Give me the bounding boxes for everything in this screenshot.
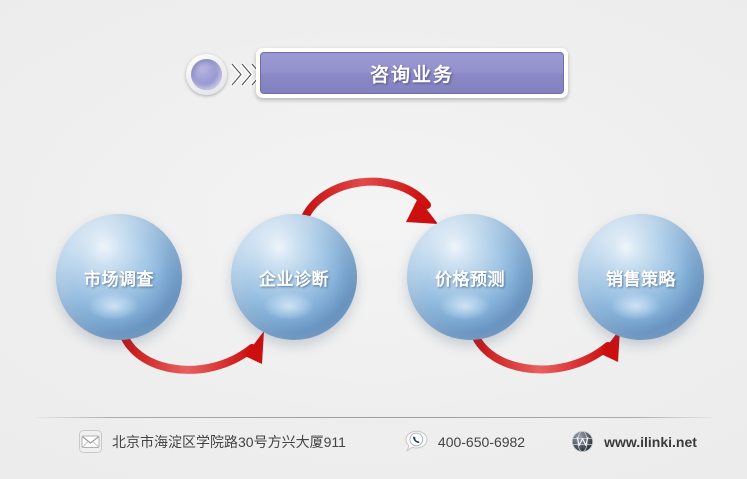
footer-bar: 北京市海淀区学院路30号方兴大厦911 400-650-6982: [0, 417, 747, 479]
footer-website-item: www.ilinki.net: [570, 429, 697, 454]
footer-address-text: 北京市海淀区学院路30号方兴大厦911: [112, 432, 346, 452]
footer-phone-item: 400-650-6982: [404, 429, 525, 454]
flow-step-4[interactable]: 销售策略: [578, 214, 704, 340]
header-title-bar-inner: 咨询业务: [260, 52, 564, 94]
flow-step-2-label: 企业诊断: [259, 265, 329, 290]
flow-step-3[interactable]: 价格预测: [407, 214, 533, 340]
envelope-icon: [78, 429, 103, 454]
arrow-diagnosis-to-forecast: [303, 182, 438, 224]
phone-bubble-icon: [404, 429, 429, 454]
footer-contact-list: 北京市海淀区学院路30号方兴大厦911 400-650-6982: [0, 429, 747, 454]
footer-address-item: 北京市海淀区学院路30号方兴大厦911: [78, 429, 346, 454]
circle-badge-icon: [186, 54, 227, 95]
flow-step-2[interactable]: 企业诊断: [231, 214, 357, 340]
flow-step-1-label: 市场调查: [84, 265, 154, 290]
slide-canvas: 咨询业务: [0, 0, 747, 479]
flow-step-4-label: 销售策略: [606, 265, 676, 290]
header-title-bar: 咨询业务: [256, 48, 568, 98]
header-banner: 咨询业务: [186, 48, 568, 100]
flow-step-1[interactable]: 市场调查: [56, 214, 182, 340]
footer-phone-text: 400-650-6982: [438, 434, 525, 450]
page-title: 咨询业务: [370, 60, 454, 87]
flow-step-3-label: 价格预测: [435, 265, 505, 290]
footer-website-text: www.ilinki.net: [604, 434, 697, 450]
globe-icon: [570, 429, 595, 454]
footer-divider: [36, 417, 712, 418]
